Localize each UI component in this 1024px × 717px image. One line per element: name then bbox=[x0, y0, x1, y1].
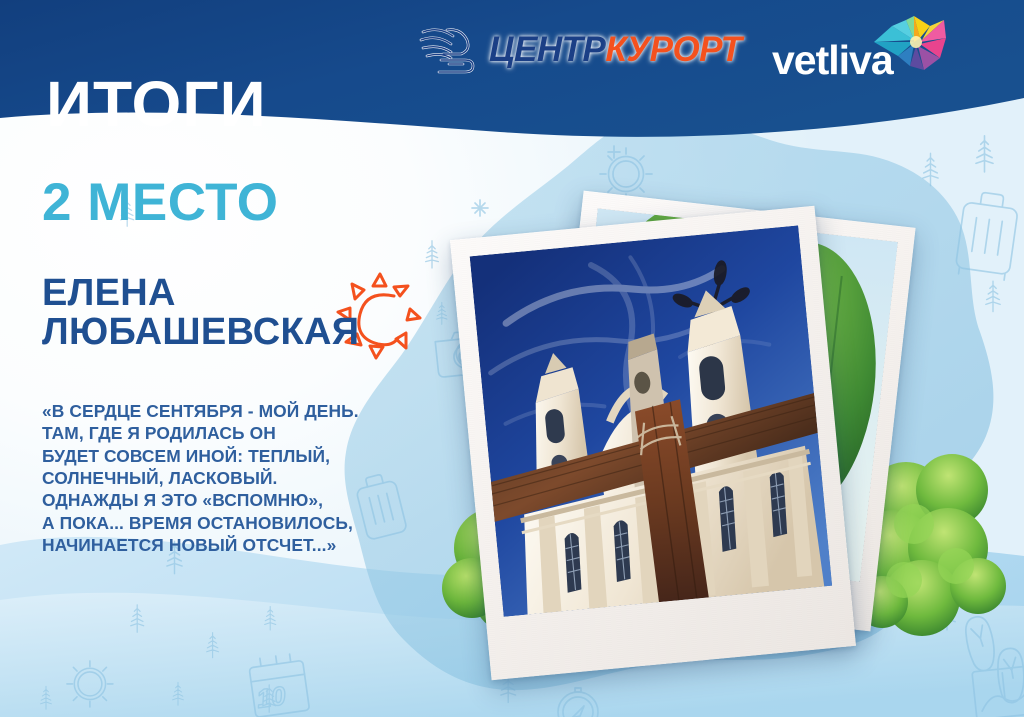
place-label: 2 МЕСТО bbox=[42, 176, 278, 229]
fir-tree-icon bbox=[426, 241, 439, 268]
logo-vetliva-wordmark: vetliva bbox=[772, 40, 893, 81]
quote-line: ОДНАЖДЫ Я ЭТО «ВСПОМНЮ», bbox=[42, 489, 422, 511]
logo-word-kurort: КУРОРТ bbox=[605, 30, 741, 69]
logo-vetliva[interactable]: vetliva bbox=[770, 12, 950, 84]
fir-tree-icon bbox=[265, 606, 276, 630]
logo-word-centr: ЦЕНТР bbox=[489, 30, 605, 69]
fir-tree-icon bbox=[41, 686, 52, 709]
winged-emblem-icon bbox=[417, 20, 485, 78]
winner-name: ЕЛЕНА ЛЮБАШЕВСКАЯ bbox=[42, 274, 359, 352]
quote-line: ТАМ, ГДЕ Я РОДИЛАСЬ ОН bbox=[42, 422, 422, 444]
sparkle-icon bbox=[472, 200, 488, 216]
fir-tree-icon bbox=[207, 633, 219, 658]
compass-icon bbox=[558, 688, 598, 717]
quote-line: А ПОКА... ВРЕМЯ ОСТАНОВИЛОСЬ, bbox=[42, 512, 422, 534]
quote-line: НАЧИНАЕТСЯ НОВЫЙ ОТСЧЕТ...» bbox=[42, 534, 422, 556]
suitcase-icon bbox=[955, 190, 1020, 281]
fir-tree-icon bbox=[131, 605, 144, 632]
winner-last-name: ЛЮБАШЕВСКАЯ bbox=[42, 313, 359, 352]
photo-baroque-church bbox=[470, 225, 833, 616]
fir-tree-icon bbox=[986, 281, 1000, 311]
fir-tree-icon bbox=[437, 302, 447, 324]
quote-line: БУДЕТ СОВСЕМ ИНОЙ: ТЕПЛЫЙ, bbox=[42, 445, 422, 467]
logo-centrkurort-wordmark: ЦЕНТРКУРОРТ bbox=[489, 32, 742, 67]
fir-tree-icon bbox=[173, 682, 184, 705]
polaroid-front[interactable] bbox=[450, 206, 856, 680]
poster-canvas: 10 bbox=[0, 0, 1024, 717]
quote-line: СОЛНЕЧНЫЙ, ЛАСКОВЫЙ. bbox=[42, 467, 422, 489]
logo-centrkurort[interactable]: ЦЕНТРКУРОРТ bbox=[417, 18, 695, 80]
winner-quote: «В СЕРДЦЕ СЕНТЯБРЯ - МОЙ ДЕНЬ. ТАМ, ГДЕ … bbox=[42, 400, 422, 557]
page-title: ИТОГИ bbox=[46, 72, 267, 136]
winner-first-name: ЕЛЕНА bbox=[42, 274, 359, 313]
quote-line: «В СЕРДЦЕ СЕНТЯБРЯ - МОЙ ДЕНЬ. bbox=[42, 400, 422, 422]
sun-icon bbox=[67, 661, 113, 707]
calendar-day-label: 10 bbox=[255, 680, 288, 714]
